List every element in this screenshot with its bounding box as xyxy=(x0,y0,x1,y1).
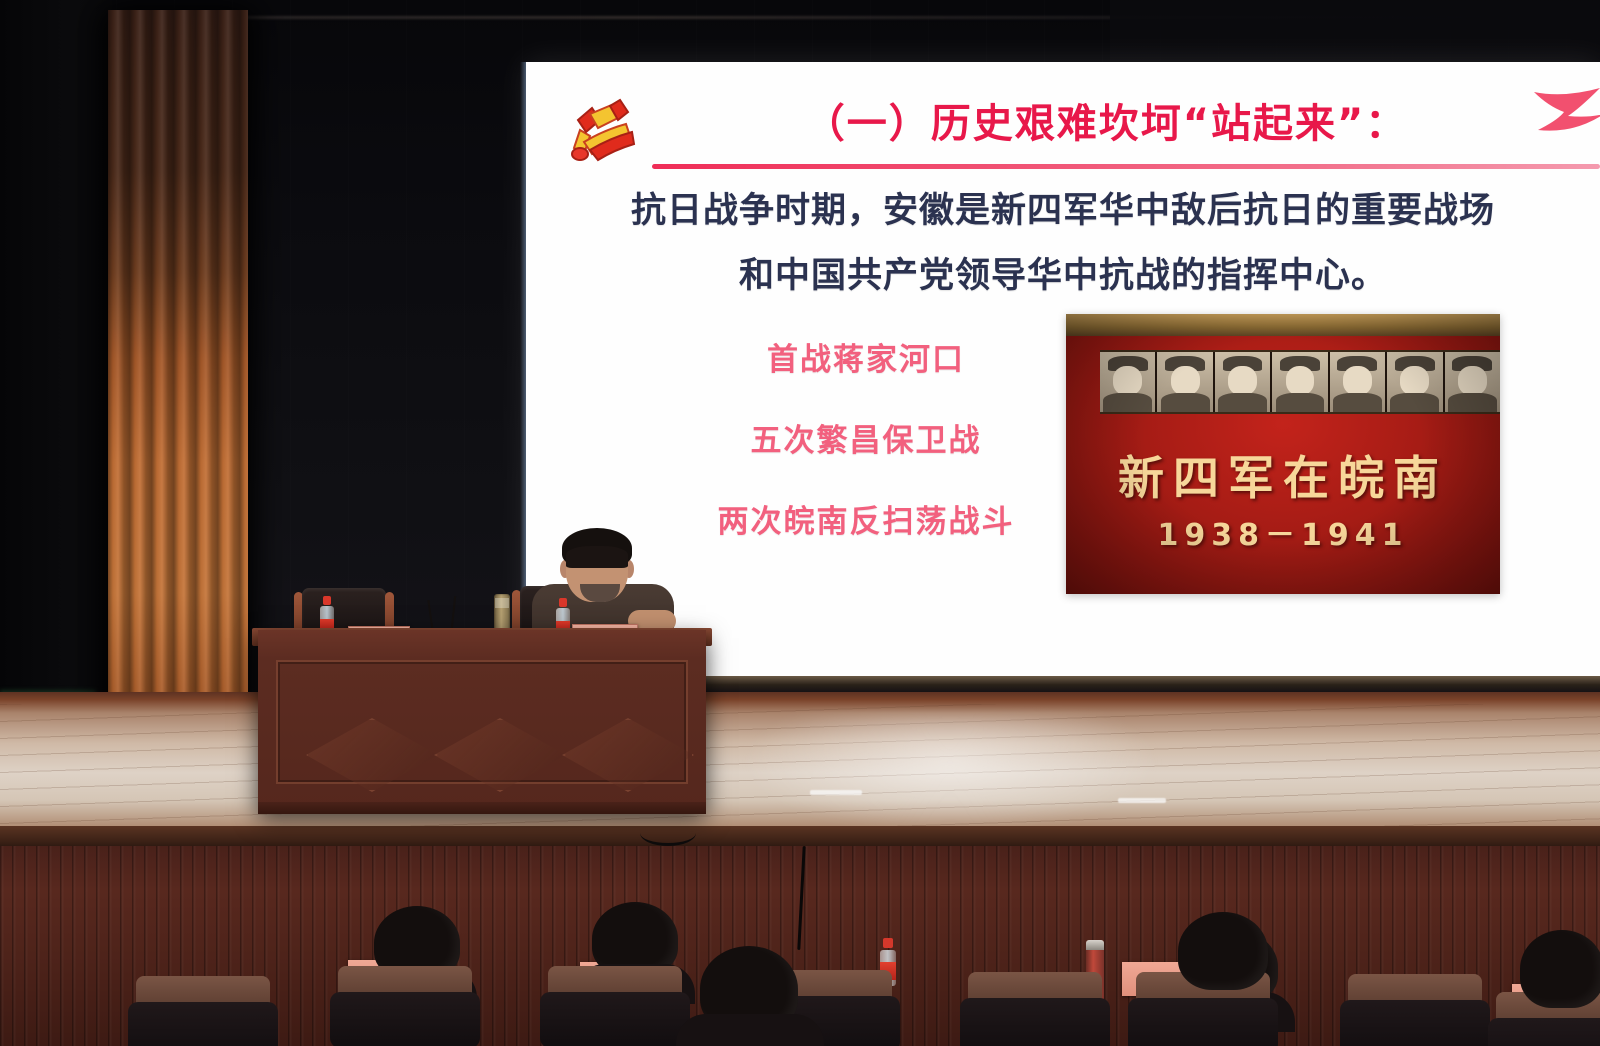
slide-photo-xinsijun: 新四军在皖南 1938－1941 xyxy=(1066,314,1500,594)
projection-screen: （一）历史艰难坎坷“站起来”： 抗日战争时期，安徽是新四军华中敌后抗日的重要战场… xyxy=(526,62,1600,678)
red-ribbon-decoration-icon xyxy=(1508,86,1600,148)
portrait-photo-strip xyxy=(1100,350,1500,414)
podium-base-trim xyxy=(258,802,706,814)
photo-year-range: 1938－1941 xyxy=(1066,510,1500,554)
audience-chair xyxy=(960,972,1110,1046)
list-item: 五次繁昌保卫战 xyxy=(751,415,982,460)
list-item: 首战蒋家河口 xyxy=(767,334,965,379)
presentation-slide: （一）历史艰难坎坷“站起来”： 抗日战争时期，安徽是新四军华中敌后抗日的重要战场… xyxy=(526,62,1600,678)
audience-chair xyxy=(330,966,480,1046)
portrait-photo xyxy=(1330,352,1385,412)
dark-wing-left xyxy=(0,0,112,760)
photo-caption: 新四军在皖南 xyxy=(1066,442,1500,508)
podium-diamond-motif xyxy=(562,718,694,792)
portrait-photo xyxy=(1157,352,1212,412)
auditorium-scene: （一）历史艰难坎坷“站起来”： 抗日战争时期，安徽是新四军华中敌后抗日的重要战场… xyxy=(0,0,1600,1046)
audience-member-shoulders xyxy=(676,1014,824,1046)
portrait-photo xyxy=(1272,352,1327,412)
floor-marker xyxy=(810,790,862,795)
stage-front-edge xyxy=(0,826,1600,848)
audience-chair xyxy=(128,976,278,1046)
audience-member xyxy=(1520,930,1600,1008)
portrait-photo xyxy=(1100,352,1155,412)
audience-chair xyxy=(1340,974,1490,1046)
photo-top-molding xyxy=(1066,314,1500,336)
portrait-photo xyxy=(1445,352,1500,412)
slide-title: （一）历史艰难坎坷“站起来”： xyxy=(805,91,1408,149)
title-underline-rule xyxy=(652,164,1600,169)
podium-diamond-motif xyxy=(306,718,438,792)
slide-body-line-1: 抗日战争时期，安徽是新四军华中敌后抗日的重要战场 xyxy=(526,182,1600,233)
floor-cable xyxy=(640,820,696,846)
conference-podium xyxy=(258,630,706,810)
audience-member xyxy=(1178,912,1268,990)
portrait-photo xyxy=(1387,352,1442,412)
list-item: 两次皖南反扫荡战斗 xyxy=(718,496,1015,541)
speaker-at-podium xyxy=(532,528,674,638)
slide-title-row: （一）历史艰难坎坷“站起来”： xyxy=(656,84,1556,156)
slide-body-line-2: 和中国共产党领导华中抗战的指挥中心。 xyxy=(526,247,1600,298)
slide-bullet-list: 首战蒋家河口 五次繁昌保卫战 两次皖南反扫荡战斗 xyxy=(676,334,1056,541)
floor-marker xyxy=(1118,798,1166,803)
floor-reflection xyxy=(740,714,1160,834)
ccp-party-emblem-icon xyxy=(560,90,646,168)
podium-panel-frame xyxy=(276,660,688,784)
audience-chair xyxy=(540,966,690,1046)
portrait-photo xyxy=(1215,352,1270,412)
stage-curtain-left xyxy=(108,10,248,740)
podium-diamond-motif xyxy=(434,718,566,792)
